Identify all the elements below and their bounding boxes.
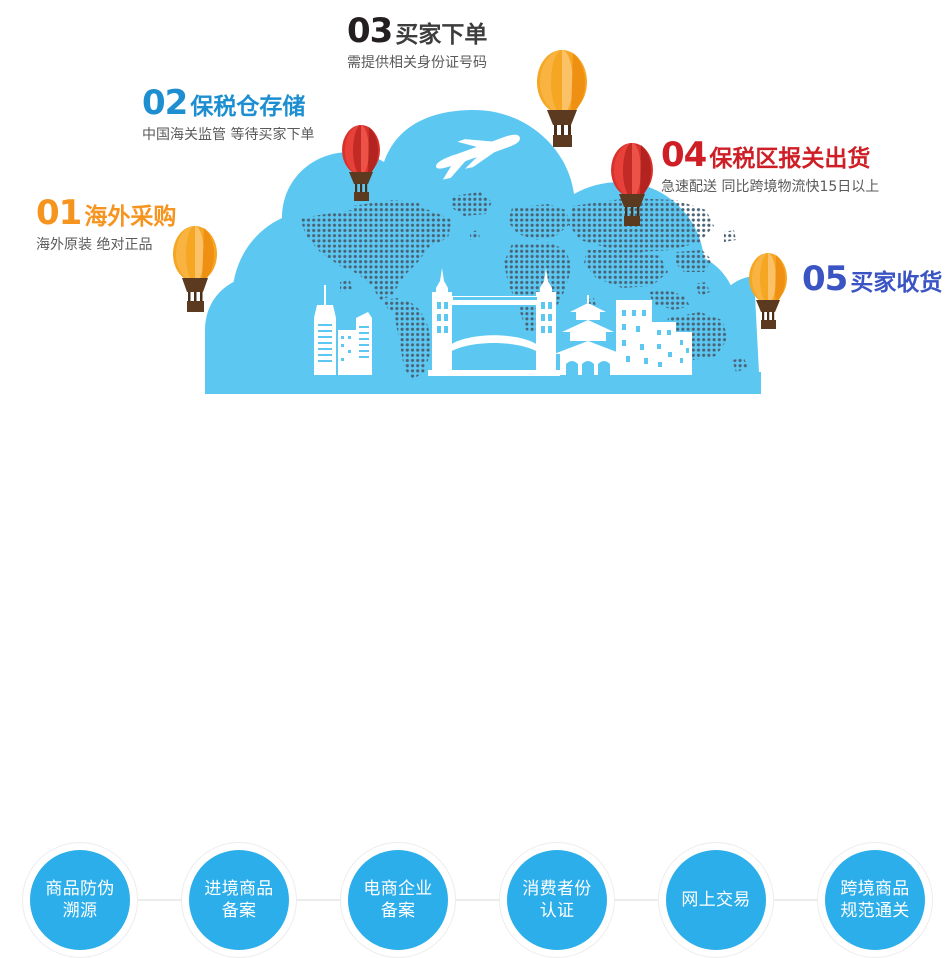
feature-circle-5-label: 网上交易 [681, 889, 750, 911]
step-05-label: 05 买家收货 [802, 262, 942, 296]
orange-hot-air-balloon [744, 252, 792, 330]
step-01-headline: 01 海外采购 [36, 196, 176, 230]
feature-circle-2-label: 进境商品 备案 [204, 878, 273, 923]
feature-circle-1[interactable]: 商品防伪 溯源 [22, 842, 138, 958]
connector-line [297, 899, 345, 901]
feature-circle-3-label: 电商企业 备案 [363, 878, 432, 923]
connector-line [456, 899, 504, 901]
feature-circle-6[interactable]: 跨境商品 规范通关 [817, 842, 933, 958]
feature-circle-3-fill: 电商企业 备案 [348, 850, 448, 950]
step-03-subtitle: 需提供相关身份证号码 [347, 52, 487, 72]
step-02-number: 02 [142, 86, 187, 120]
step-04-label: 04 保税区报关出货 急速配送 同比跨境物流快15日以上 [661, 138, 879, 196]
feature-circle-2[interactable]: 进境商品 备案 [181, 842, 297, 958]
connector-line [774, 899, 822, 901]
step-02-headline: 02 保税仓存储 [142, 86, 314, 120]
step-05-headline: 05 买家收货 [802, 262, 942, 296]
feature-circle-4-label: 消费者份 认证 [522, 878, 591, 923]
feature-circle-2-fill: 进境商品 备案 [189, 850, 289, 950]
step-01-label: 01 海外采购 海外原装 绝对正品 [36, 196, 176, 254]
step-05-title: 买家收货 [850, 272, 942, 295]
step-02-label: 02 保税仓存储 中国海关监管 等待买家下单 [142, 86, 314, 144]
step-01-subtitle: 海外原装 绝对正品 [36, 234, 176, 254]
red-hot-air-balloon [337, 124, 385, 202]
step-03-label: 03 买家下单 需提供相关身份证号码 [347, 14, 487, 72]
red-hot-air-balloon [606, 141, 658, 227]
step-04-headline: 04 保税区报关出货 [661, 138, 879, 172]
step-01-title: 海外采购 [84, 206, 176, 229]
step-04-title: 保税区报关出货 [709, 148, 870, 171]
step-02-subtitle: 中国海关监管 等待买家下单 [142, 124, 314, 144]
feature-circle-1-fill: 商品防伪 溯源 [30, 850, 130, 950]
feature-circle-6-fill: 跨境商品 规范通关 [825, 850, 925, 950]
step-04-subtitle: 急速配送 同比跨境物流快15日以上 [661, 176, 879, 196]
feature-circle-5-fill: 网上交易 [666, 850, 766, 950]
step-04-number: 04 [661, 138, 706, 172]
orange-hot-air-balloon [531, 48, 593, 148]
feature-circle-row: 商品防伪 溯源 进境商品 备案 电商企业 备案 消费者份 认证 网上交易 跨境商 [0, 418, 945, 550]
feature-circle-4[interactable]: 消费者份 认证 [499, 842, 615, 958]
feature-circle-4-fill: 消费者份 认证 [507, 850, 607, 950]
step-03-number: 03 [347, 14, 392, 48]
step-03-title: 买家下单 [395, 24, 487, 47]
feature-circle-3[interactable]: 电商企业 备案 [340, 842, 456, 958]
feature-circle-1-label: 商品防伪 溯源 [45, 878, 114, 923]
step-01-number: 01 [36, 196, 81, 230]
feature-circle-5[interactable]: 网上交易 [658, 842, 774, 958]
step-03-headline: 03 买家下单 [347, 14, 487, 48]
connector-line [615, 899, 663, 901]
step-05-number: 05 [802, 262, 847, 296]
step-02-title: 保税仓存储 [190, 96, 305, 119]
connector-line [138, 899, 186, 901]
feature-circle-6-label: 跨境商品 规范通关 [840, 878, 909, 923]
infographic-canvas: 01 海外采购 海外原装 绝对正品 02 保税仓存储 中国海关监管 等待买家下单… [0, 0, 945, 550]
